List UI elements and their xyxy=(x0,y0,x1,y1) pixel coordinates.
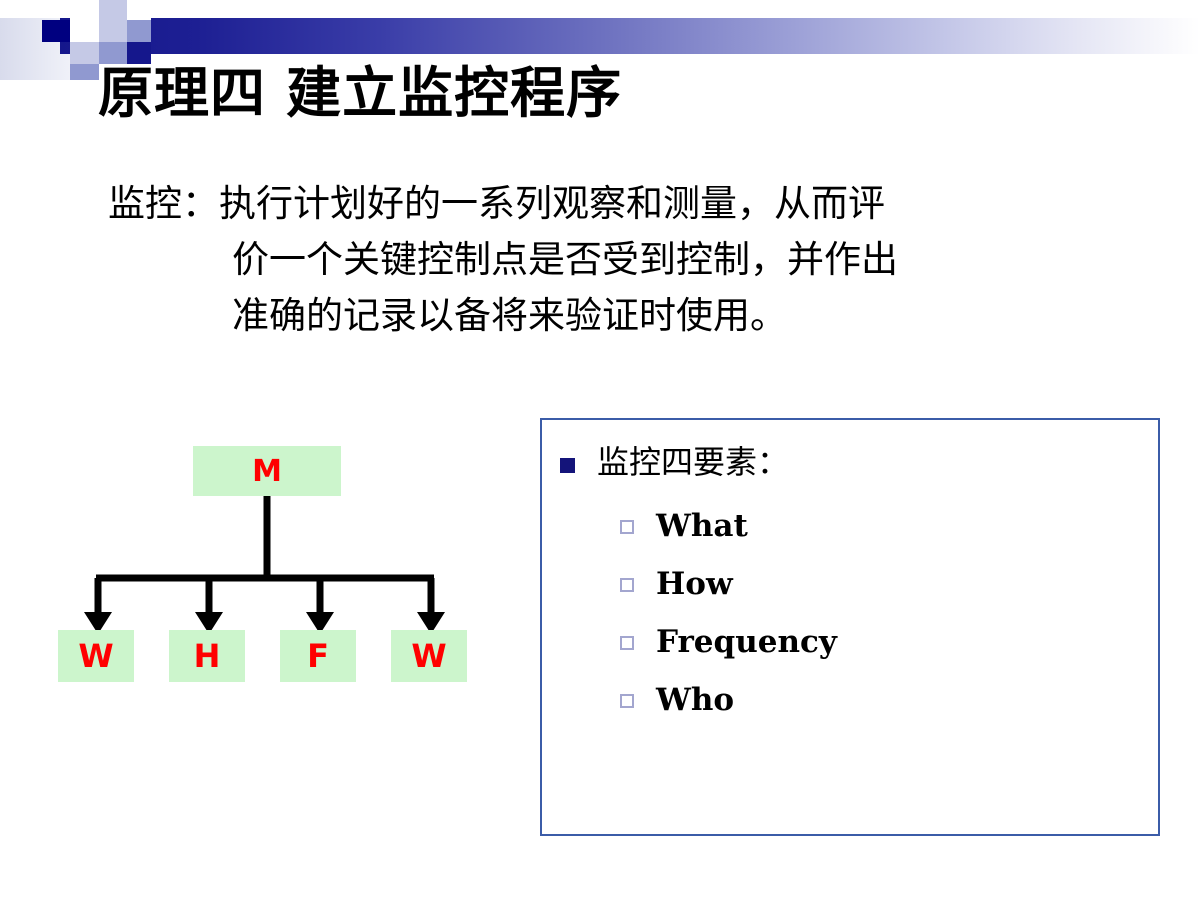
deco-square-mid-2 xyxy=(127,20,151,42)
monitoring-tree-diagram: M W H F W xyxy=(40,420,510,720)
list-item-label: What xyxy=(656,511,748,542)
deco-square-navy-1 xyxy=(42,20,70,42)
deco-square-white-1 xyxy=(70,20,99,42)
tree-node-what: W xyxy=(58,630,134,682)
deco-square-light-3 xyxy=(99,20,127,42)
list-item-frequency[interactable]: Frequency xyxy=(542,614,1158,672)
deco-square-light-1 xyxy=(70,0,100,20)
hollow-square-bullet-icon xyxy=(620,520,634,534)
tree-node-root: M xyxy=(193,446,341,496)
hollow-square-bullet-icon xyxy=(620,636,634,650)
filled-square-bullet-icon xyxy=(560,458,575,473)
monitoring-elements-panel: 监控四要素： What How Frequency Who xyxy=(540,418,1160,836)
body-paragraph: 监控：执行计划好的一系列观察和测量，从而评 价一个关键控制点是否受到控制，并作出… xyxy=(108,176,1118,345)
tree-node-how: H xyxy=(169,630,245,682)
list-item-how[interactable]: How xyxy=(542,556,1158,614)
deco-square-mid-1 xyxy=(127,0,151,20)
deco-square-light-2 xyxy=(99,0,127,20)
list-item-label: Who xyxy=(656,685,734,716)
deco-square-mid-4 xyxy=(70,64,99,80)
list-item-label: How xyxy=(656,569,733,600)
list-item-what[interactable]: What xyxy=(542,498,1158,556)
body-line-1: 监控：执行计划好的一系列观察和测量，从而评 xyxy=(108,176,1118,232)
slide-canvas: 原理四 建立监控程序 监控：执行计划好的一系列观察和测量，从而评 价一个关键控制… xyxy=(0,0,1200,900)
tree-node-frequency: F xyxy=(280,630,356,682)
panel-heading-label: 监控四要素： xyxy=(597,442,789,484)
deco-square-light-4 xyxy=(70,42,99,64)
hollow-square-bullet-icon xyxy=(620,694,634,708)
header-gradient-bar xyxy=(60,18,1200,54)
list-item-label: Frequency xyxy=(656,627,837,658)
panel-list: 监控四要素： xyxy=(542,420,1158,484)
page-title: 原理四 建立监控程序 xyxy=(98,62,1138,125)
body-line-3: 准确的记录以备将来验证时使用。 xyxy=(108,288,1118,344)
hollow-square-bullet-icon xyxy=(620,578,634,592)
panel-heading-row: 监控四要素： xyxy=(542,420,1158,484)
tree-node-who: W xyxy=(391,630,467,682)
panel-sub-list: What How Frequency Who xyxy=(542,498,1158,730)
list-item-who[interactable]: Who xyxy=(542,672,1158,730)
body-line-2: 价一个关键控制点是否受到控制，并作出 xyxy=(108,232,1118,288)
